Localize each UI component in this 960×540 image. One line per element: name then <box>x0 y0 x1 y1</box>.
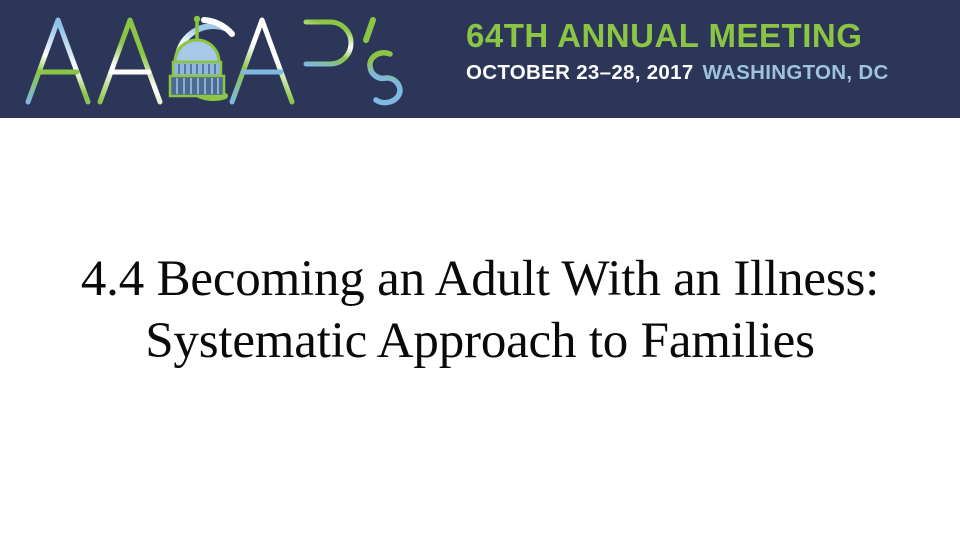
slide-title-line-1: 4.4 Becoming an Adult With an Illness: <box>0 248 960 310</box>
aacap-logo <box>18 6 448 114</box>
meeting-dates: OCTOBER 23–28, 2017 <box>466 61 694 84</box>
logo-letter-s <box>370 53 400 103</box>
aacap-wordmark-svg <box>18 6 448 114</box>
logo-letter-a-2 <box>100 20 160 102</box>
meeting-date-location: OCTOBER 23–28, 2017WASHINGTON, DC <box>466 60 946 86</box>
logo-apostrophe <box>366 20 373 40</box>
conference-banner: 64TH ANNUAL MEETING OCTOBER 23–28, 2017W… <box>0 0 960 118</box>
logo-letter-p <box>306 20 351 102</box>
slide-title-line-2: Systematic Approach to Families <box>0 310 960 372</box>
logo-letter-a-3 <box>232 20 292 102</box>
slide-canvas: 64TH ANNUAL MEETING OCTOBER 23–28, 2017W… <box>0 0 960 540</box>
logo-letter-a-1 <box>28 20 88 102</box>
meeting-city: WASHINGTON, DC <box>703 61 889 84</box>
meeting-info: 64TH ANNUAL MEETING OCTOBER 23–28, 2017W… <box>466 18 946 102</box>
capitol-dome-icon <box>170 16 232 98</box>
meeting-title: 64TH ANNUAL MEETING <box>466 18 946 54</box>
slide-title: 4.4 Becoming an Adult With an Illness: S… <box>0 248 960 372</box>
